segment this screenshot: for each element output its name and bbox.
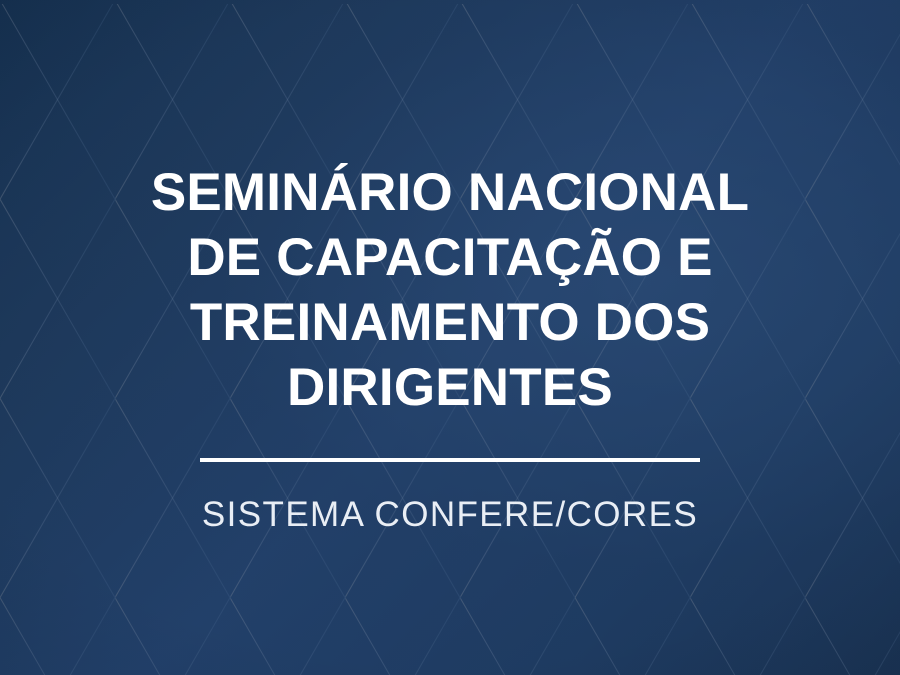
title-line-1: SEMINÁRIO NACIONAL [70,160,830,225]
title-line-4: DIRIGENTES [70,355,830,420]
page-title: SEMINÁRIO NACIONAL DE CAPACITAÇÃO E TREI… [70,160,830,420]
title-slide: SEMINÁRIO NACIONAL DE CAPACITAÇÃO E TREI… [0,0,900,675]
title-line-3: TREINAMENTO DOS [70,290,830,355]
slide-content: SEMINÁRIO NACIONAL DE CAPACITAÇÃO E TREI… [0,0,900,675]
subtitle: SISTEMA CONFERE/CORES [202,495,698,535]
title-line-2: DE CAPACITAÇÃO E [70,225,830,290]
title-divider [200,458,700,462]
